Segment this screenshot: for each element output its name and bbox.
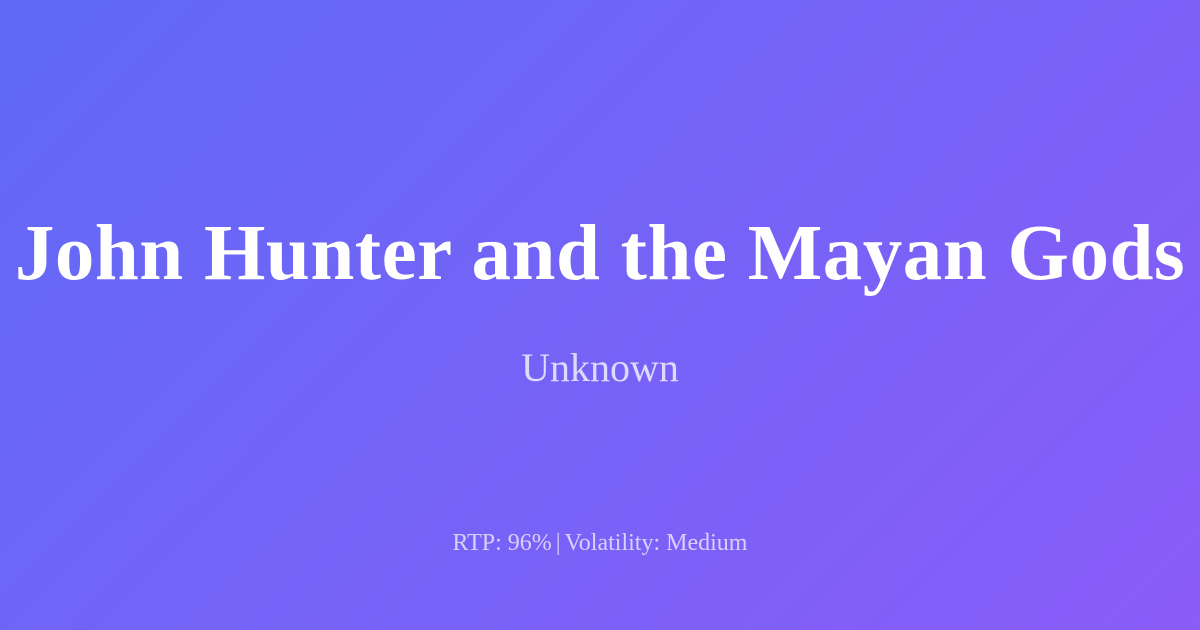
rtp-value: RTP: 96%: [453, 530, 552, 556]
game-provider-label: Unknown: [521, 344, 679, 392]
game-meta-strip: RTP: 96%|Volatility: Medium: [0, 529, 1200, 558]
og-share-card: John Hunter and the Mayan Gods Unknown R…: [0, 0, 1200, 630]
meta-separator: |: [552, 530, 565, 556]
page-title: John Hunter and the Mayan Gods: [15, 212, 1185, 296]
volatility-value: Volatility: Medium: [565, 530, 748, 556]
